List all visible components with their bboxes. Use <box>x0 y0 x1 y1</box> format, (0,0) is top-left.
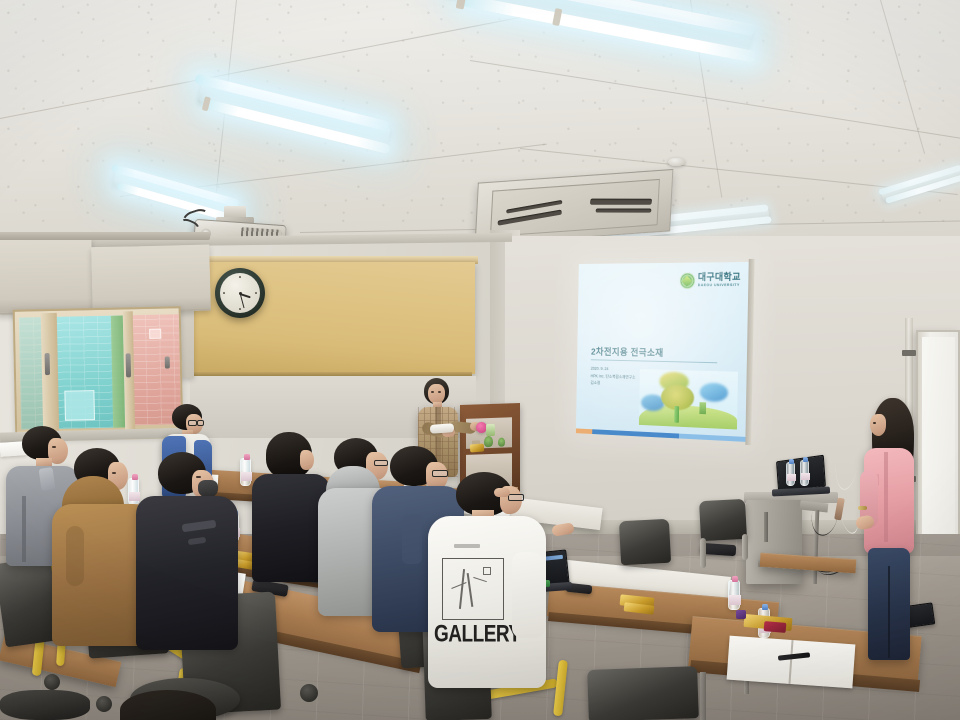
attendee-white-sweatshirt: GALLERY <box>428 472 552 688</box>
chair-caster <box>44 674 60 690</box>
window-pane-side <box>19 317 43 429</box>
shirt-placket <box>884 452 888 542</box>
logo-emblem-icon <box>679 272 695 289</box>
face <box>428 384 445 404</box>
presenter-woman-right <box>862 398 926 668</box>
table-leg <box>700 672 706 720</box>
slide-meta-block: 2020. 9. 24 HPK Inc. 탄소복합소재연구소 김소정 <box>590 365 635 388</box>
outside-window-small <box>64 390 95 421</box>
white-sweatshirt: GALLERY <box>428 516 546 688</box>
slide-title: 2차전지용 전극소재 <box>591 344 664 359</box>
blind-roller-tube <box>0 232 210 240</box>
slide-artwork <box>639 369 738 429</box>
ac-vent <box>590 199 652 205</box>
glasses <box>197 420 204 426</box>
jeans <box>868 548 910 660</box>
chair-seat-stacked <box>0 690 90 720</box>
window-handle[interactable] <box>126 353 132 377</box>
logo-korean-text: 대구대학교 <box>698 273 741 283</box>
eye <box>438 391 441 393</box>
classroom-photo: 대구대학교 DAEGU UNIVERSITY 2차전지용 전극소재 2020. … <box>0 0 960 720</box>
water-bottle[interactable] <box>800 460 809 486</box>
water-bottle[interactable] <box>728 580 740 610</box>
sleeve <box>512 552 546 638</box>
chair-frame <box>742 534 748 560</box>
water-bottle[interactable] <box>786 462 795 486</box>
slide-title-rule <box>591 359 717 363</box>
podium-mic-stem <box>764 512 768 542</box>
artwork-photo-bubble <box>700 383 729 403</box>
projection-screen: 대구대학교 DAEGU UNIVERSITY 2차전지용 전극소재 2020. … <box>576 262 750 442</box>
sweatshirt-print-box <box>442 558 504 620</box>
window-handle[interactable] <box>165 356 170 368</box>
green-sample-object <box>486 424 495 436</box>
smoke-detector <box>668 158 685 166</box>
black-jacket <box>136 496 238 650</box>
hoodie-fold <box>66 526 84 586</box>
eye <box>873 422 876 424</box>
eye <box>112 472 116 474</box>
window-blind-right[interactable] <box>91 244 211 313</box>
window-pane-teal <box>55 315 129 428</box>
daegu-university-logo: 대구대학교 DAEGU UNIVERSITY <box>679 272 741 289</box>
window-handle[interactable] <box>45 353 50 375</box>
sweatshirt-print-text: GALLERY <box>434 621 521 649</box>
slide-meta-author: 김소정 <box>590 379 635 388</box>
face <box>300 450 314 470</box>
outside-window-small <box>149 329 161 339</box>
held-white-object <box>430 423 455 434</box>
eye <box>431 391 434 393</box>
window-blind-left[interactable] <box>0 237 93 315</box>
whiteboard-bracket <box>902 350 916 356</box>
glasses <box>508 494 524 501</box>
stacking-chair[interactable] <box>587 666 699 720</box>
face <box>870 414 886 436</box>
eye <box>196 476 201 478</box>
potted-plant <box>484 436 493 447</box>
projected-slide: 대구대학교 DAEGU UNIVERSITY 2차전지용 전극소재 2020. … <box>576 262 750 442</box>
jacket-print <box>188 537 207 545</box>
ac-vent <box>596 209 652 213</box>
sweatshirt-print-smalltext <box>454 544 480 548</box>
chair-caster <box>96 696 112 712</box>
jacket-print <box>182 520 217 533</box>
hand <box>494 488 510 497</box>
chair-caster <box>300 684 318 702</box>
wall-clock <box>215 268 265 318</box>
stacking-chair[interactable] <box>699 499 747 541</box>
potted-plant <box>498 437 505 446</box>
stacking-chair[interactable] <box>619 519 671 566</box>
logo-english-text: DAEGU UNIVERSITY <box>698 284 741 288</box>
open-notebook[interactable] <box>727 636 856 689</box>
glasses <box>188 420 197 426</box>
attendee-black-jacket-mask <box>136 452 242 652</box>
notebook-spine <box>788 640 793 684</box>
purple-ribbon <box>736 610 746 619</box>
wristwatch <box>858 506 867 510</box>
chair-frame <box>700 538 706 568</box>
red-ribbon <box>764 621 787 633</box>
